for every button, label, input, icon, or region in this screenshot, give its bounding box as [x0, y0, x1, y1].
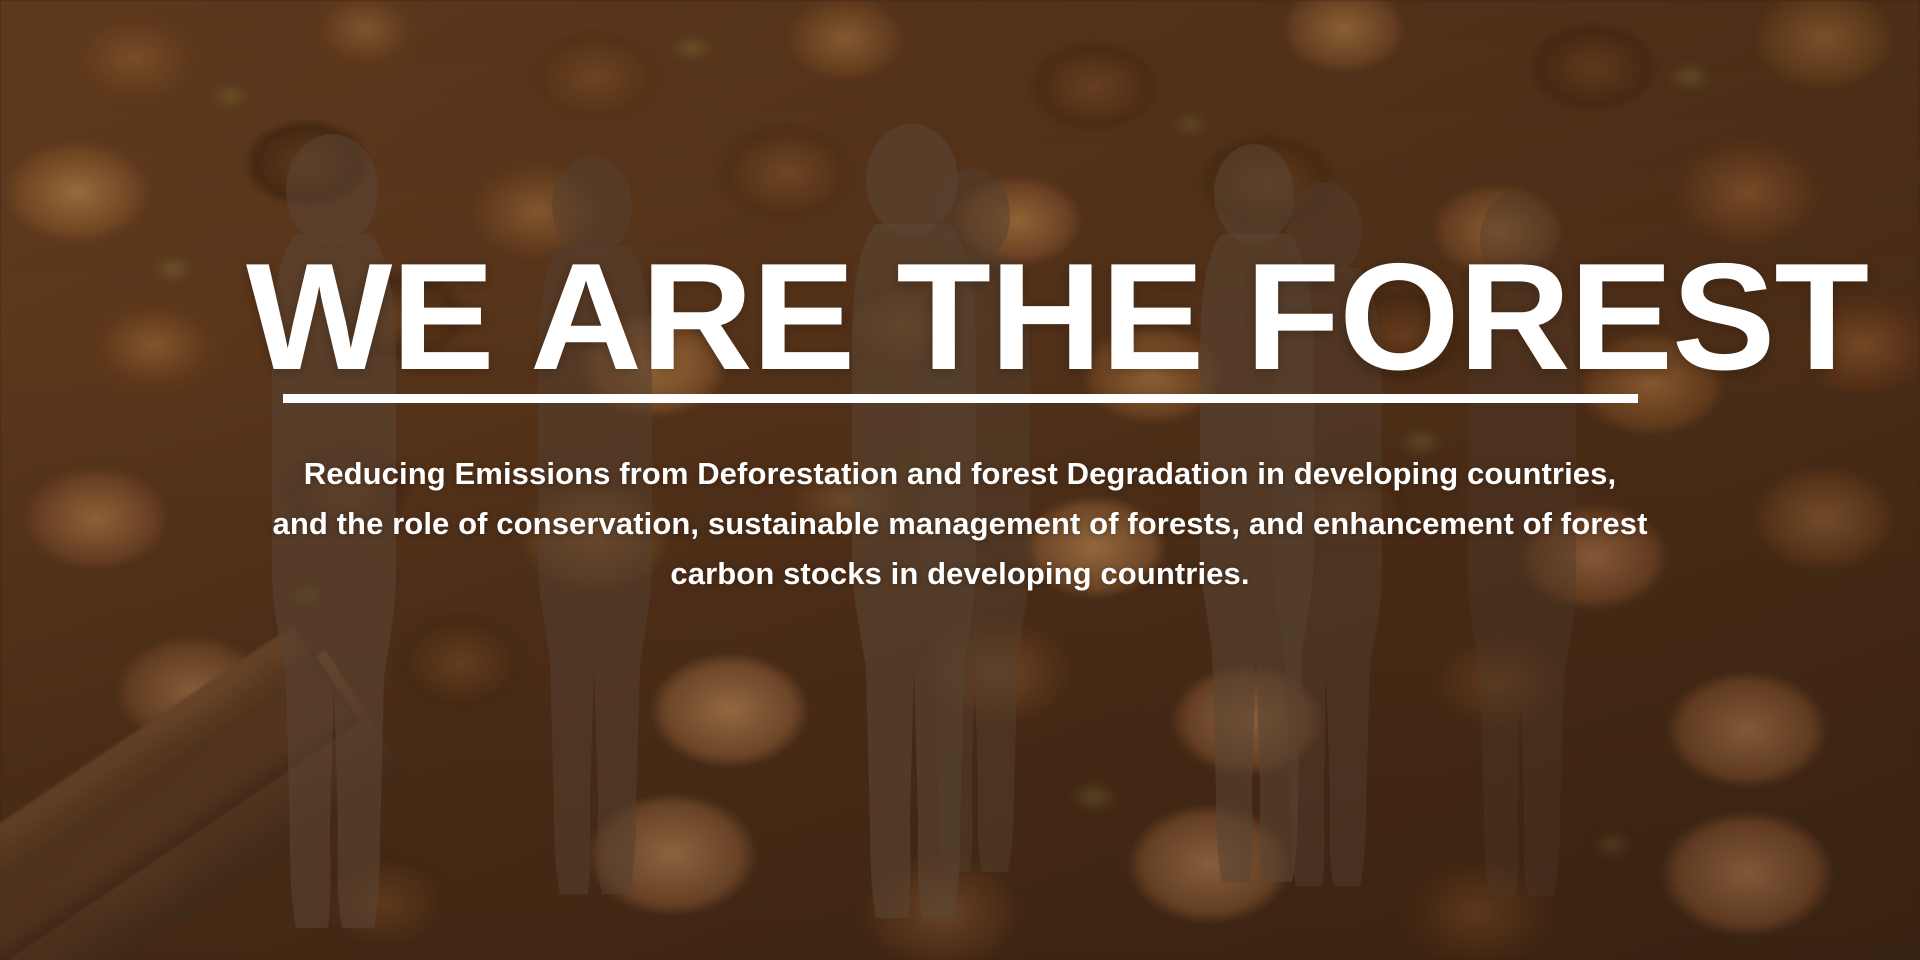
page-title: WE ARE THE FOREST	[246, 248, 1674, 388]
subtitle-line-2: and the role of conservation, sustainabl…	[225, 499, 1695, 549]
hero-subtitle: Reducing Emissions from Deforestation an…	[225, 449, 1695, 600]
hero-content: WE ARE THE FOREST Reducing Emissions fro…	[0, 0, 1920, 960]
subtitle-line-3: carbon stocks in developing countries.	[225, 549, 1695, 599]
subtitle-line-1: Reducing Emissions from Deforestation an…	[225, 449, 1695, 499]
hero-banner: WE ARE THE FOREST Reducing Emissions fro…	[0, 0, 1920, 960]
headline-block: WE ARE THE FOREST	[260, 248, 1660, 403]
